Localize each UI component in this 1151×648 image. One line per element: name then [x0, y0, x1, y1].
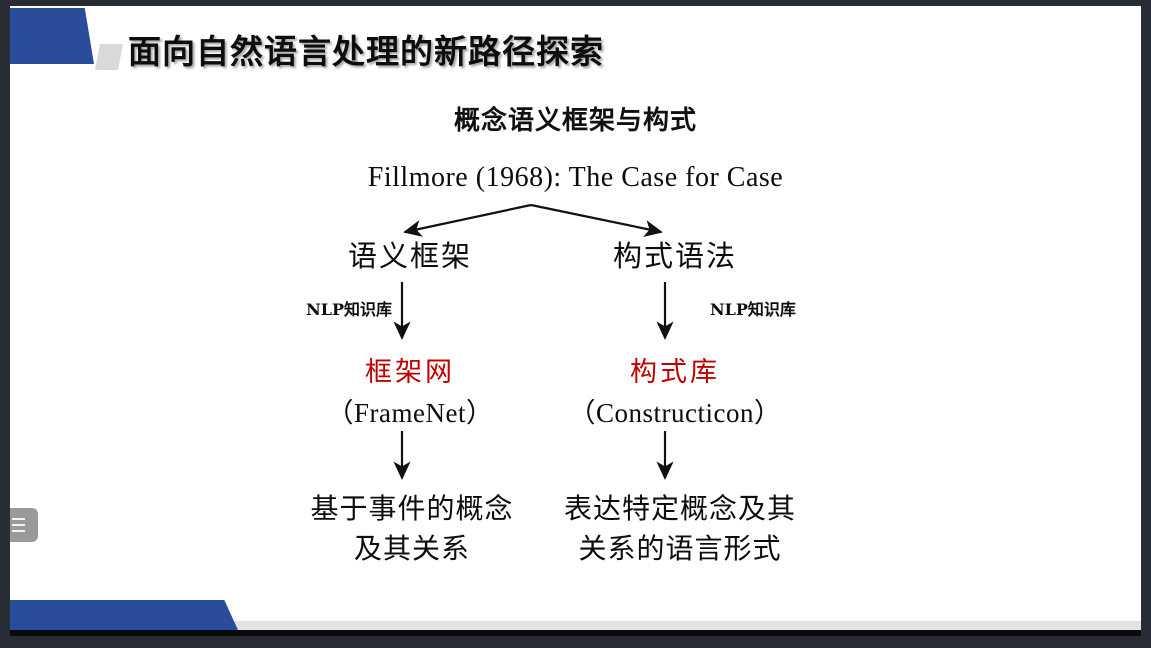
edge-label-right-nlp-kb: NLP知识库 — [710, 299, 870, 321]
bottom-black-band — [10, 630, 1141, 636]
branch-title-semantic-frame: 语义框架 — [290, 238, 530, 276]
kb-node-framenet-cn: 框架网 — [290, 354, 530, 392]
kb-node-framenet-en: （FrameNet） — [290, 394, 530, 432]
slide-viewer: 面向自然语言处理的新路径探索 概念语义框架与构式 — [0, 0, 1151, 648]
edge-label-left-nlp-kb: NLP知识库 — [242, 299, 392, 321]
kb-node-framenet: 框架网 （FrameNet） — [290, 354, 530, 432]
concept-diagram: Fillmore (1968): The Case for Case 语义框架 … — [10, 6, 1141, 636]
kb-node-constructicon: 构式库 （Constructicon） — [555, 354, 795, 432]
leaf-node-linguistic-forms: 表达特定概念及其关系的语言形式 — [550, 490, 810, 570]
hamburger-line-1 — [12, 518, 25, 520]
hamburger-menu-icon[interactable] — [10, 508, 38, 542]
hamburger-line-3 — [12, 530, 25, 532]
kb-node-constructicon-en: （Constructicon） — [555, 394, 795, 432]
branch-title-construction-grammar: 构式语法 — [555, 238, 795, 276]
leaf-node-event-concepts: 基于事件的概念及其关系 — [298, 490, 526, 570]
root-split-arrows — [405, 205, 661, 232]
slide-canvas: 面向自然语言处理的新路径探索 概念语义框架与构式 — [10, 6, 1141, 636]
kb-node-constructicon-cn: 构式库 — [555, 354, 795, 392]
bottom-gray-band — [120, 621, 1141, 630]
diagram-root-node: Fillmore (1968): The Case for Case — [10, 160, 1141, 196]
bottom-blue-shape — [10, 600, 238, 630]
hamburger-line-2 — [12, 524, 25, 526]
